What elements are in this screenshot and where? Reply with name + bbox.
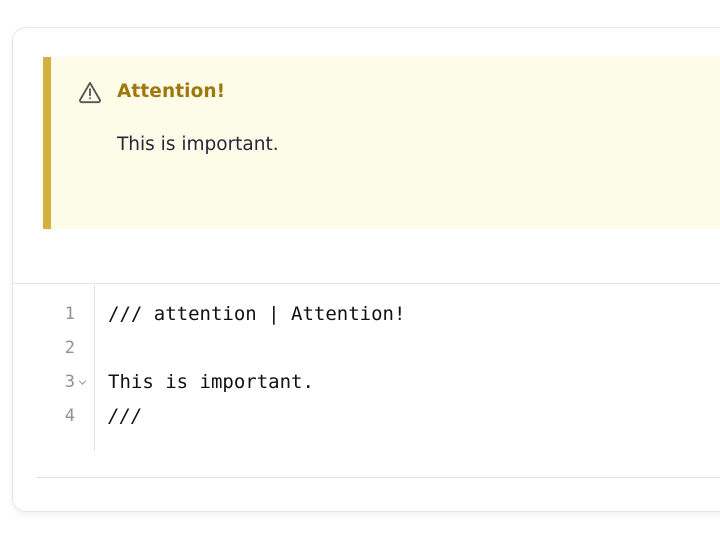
- line-number-cell: 4: [25, 408, 94, 425]
- line-number: 1: [65, 306, 75, 323]
- preview-card: Attention! This is important. 1 /// atte…: [12, 27, 720, 512]
- code-line[interactable]: 4 ///: [25, 399, 720, 433]
- warning-triangle-icon: [77, 79, 103, 105]
- screenshot-stage: Attention! This is important. 1 /// atte…: [0, 0, 720, 544]
- admonition-attention: Attention! This is important.: [43, 57, 720, 229]
- fold-slot[interactable]: [75, 378, 90, 387]
- rendered-preview-pane: Attention! This is important.: [13, 28, 720, 284]
- code-line[interactable]: 2: [25, 331, 720, 365]
- code-editor[interactable]: 1 /// attention | Attention! 2: [25, 285, 720, 451]
- code-line-text[interactable]: This is important.: [94, 373, 720, 392]
- line-number-cell: 1: [25, 306, 94, 323]
- admonition-header: Attention!: [77, 77, 720, 107]
- line-number-cell: 2: [25, 340, 94, 357]
- code-line-text[interactable]: /// attention | Attention!: [94, 305, 720, 324]
- admonition-body: This is important.: [117, 133, 720, 158]
- line-number: 2: [65, 340, 75, 357]
- code-line-text[interactable]: ///: [94, 407, 720, 426]
- code-line-list: 1 /// attention | Attention! 2: [25, 297, 720, 433]
- line-number: 3: [65, 374, 75, 391]
- code-line[interactable]: 3 This is important.: [25, 365, 720, 399]
- editor-footer: [13, 478, 720, 512]
- chevron-down-icon[interactable]: [78, 378, 87, 387]
- code-line[interactable]: 1 /// attention | Attention!: [25, 297, 720, 331]
- source-editor-pane: 1 /// attention | Attention! 2: [13, 285, 720, 512]
- line-number: 4: [65, 408, 75, 425]
- line-number-cell: 3: [25, 374, 94, 391]
- admonition-title: Attention!: [117, 83, 225, 102]
